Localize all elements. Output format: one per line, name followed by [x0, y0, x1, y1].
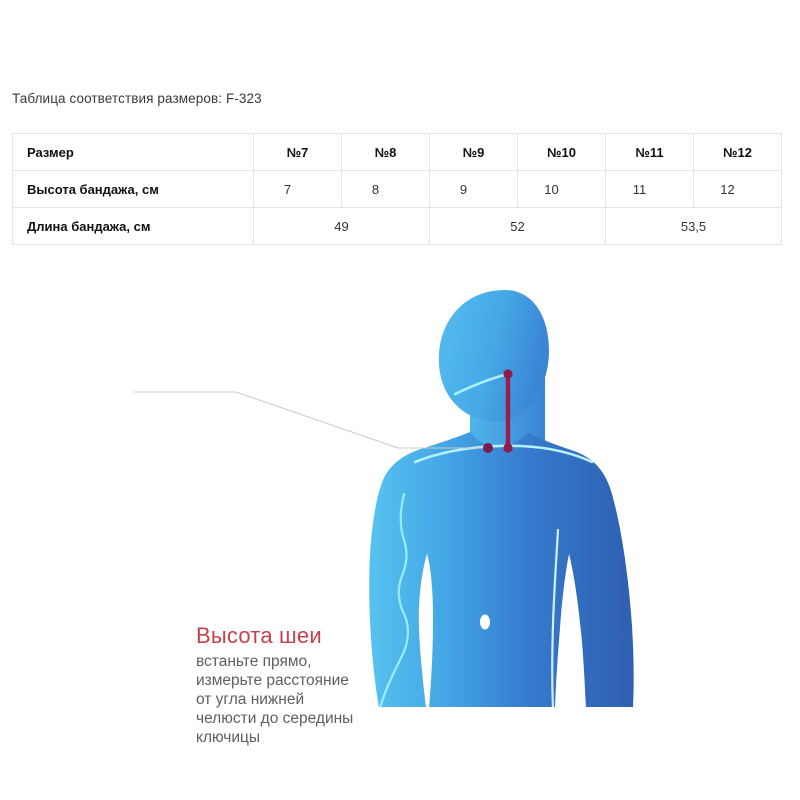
leader-line	[134, 392, 484, 448]
cell-length-group-1: 49	[254, 208, 430, 245]
cell-height-size-9: 9	[430, 171, 518, 208]
measurement-illustration: Высота шеи встаньте прямо, измерьте расс…	[0, 262, 800, 732]
table-row: Длина бандажа, см 49 52 53,5	[13, 208, 782, 245]
cell-height-size-7: 7	[254, 171, 342, 208]
navel-marker	[480, 615, 490, 630]
table-header-row: Размер №7 №8 №9 №10 №11 №12	[13, 134, 782, 171]
cell-height-size-11: 11	[606, 171, 694, 208]
head-shape	[439, 290, 549, 421]
annotation-description: встаньте прямо, измерьте расстояние от у…	[196, 653, 432, 748]
table-header-cell-size-8: №8	[342, 134, 430, 171]
row-label-bandage-length: Длина бандажа, см	[13, 208, 254, 245]
table-header-cell-size-7: №7	[254, 134, 342, 171]
table-header-cell-size-10: №10	[518, 134, 606, 171]
table-header-cell-label: Размер	[13, 134, 254, 171]
measure-endpoint-top-dot	[503, 369, 512, 378]
cell-length-group-2: 52	[430, 208, 606, 245]
table-row: Высота бандажа, см 7 8 9 10 11 12	[13, 171, 782, 208]
annotation-block: Высота шеи встаньте прямо, измерьте расс…	[196, 624, 432, 748]
table-header-cell-size-11: №11	[606, 134, 694, 171]
cell-length-group-3: 53,5	[606, 208, 782, 245]
table-header-cell-size-9: №9	[430, 134, 518, 171]
row-label-bandage-height: Высота бандажа, см	[13, 171, 254, 208]
table-title: Таблица соответствия размеров: F-323	[12, 91, 262, 106]
cell-height-size-8: 8	[342, 171, 430, 208]
annotation-title: Высота шеи	[196, 624, 432, 647]
size-chart-table: Размер №7 №8 №9 №10 №11 №12 Высота банда…	[12, 133, 782, 245]
clavicle-reference-dot	[483, 443, 493, 453]
cell-height-size-10: 10	[518, 171, 606, 208]
table-header-cell-size-12: №12	[694, 134, 782, 171]
measure-endpoint-bottom-dot	[503, 443, 512, 452]
cell-height-size-12: 12	[694, 171, 782, 208]
